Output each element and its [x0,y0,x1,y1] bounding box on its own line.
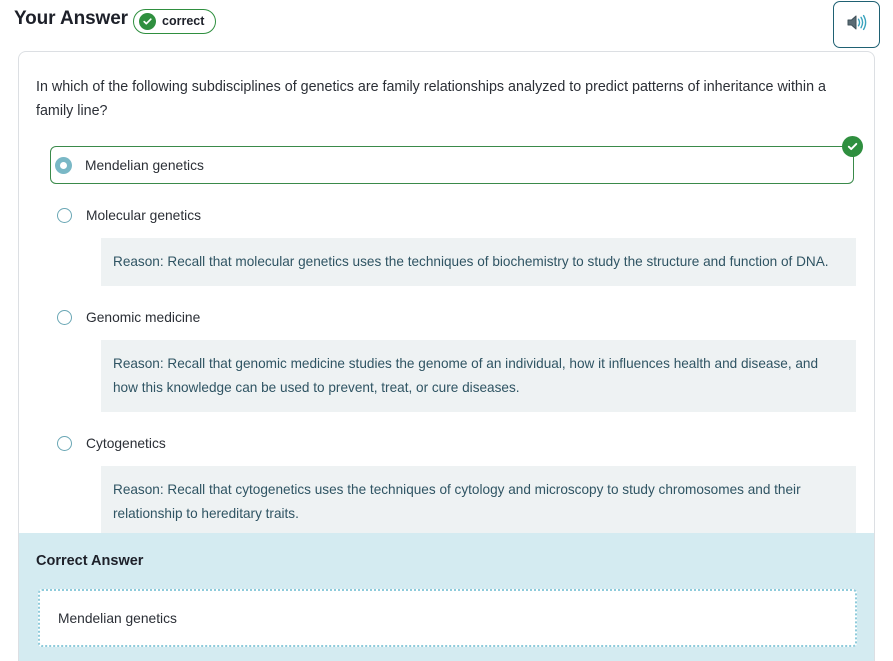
option-genomic-medicine[interactable]: Genomic medicine [19,302,876,332]
radio-unselected-icon[interactable] [57,436,72,451]
page-title: Your Answer [14,8,128,30]
radio-selected-icon[interactable] [56,158,71,173]
correct-answer-value: Mendelian genetics [58,611,177,626]
question-prompt: In which of the following subdisciplines… [36,79,826,119]
reason-text: Reason: Recall that cytogenetics uses th… [113,482,801,521]
option-block: Mendelian genetics [19,146,876,184]
header: Your Answer correct [0,0,893,48]
reason-text: Reason: Recall that genomic medicine stu… [113,356,818,395]
option-cytogenetics[interactable]: Cytogenetics [19,428,876,458]
option-label: Mendelian genetics [85,158,204,173]
question-text: In which of the following subdisciplines… [36,75,861,123]
status-badge-label: correct [162,15,204,28]
correct-answer-heading: Correct Answer [36,553,143,569]
correct-answer-section: Correct Answer Mendelian genetics [18,533,875,661]
reason-text: Reason: Recall that molecular genetics u… [113,254,829,269]
option-mendelian-genetics[interactable]: Mendelian genetics [50,146,854,184]
speaker-icon [845,12,868,38]
option-block: Cytogenetics Reason: Recall that cytogen… [19,428,876,538]
audio-play-button[interactable] [833,1,880,48]
correct-answer-card: Mendelian genetics [38,589,857,647]
status-badge: correct [133,9,216,34]
radio-unselected-icon[interactable] [57,208,72,223]
answer-review-page: Your Answer correct In which of [0,0,893,661]
options-list: Mendelian genetics Molecular genetics Re… [19,141,876,538]
option-reason: Reason: Recall that genomic medicine stu… [101,340,856,412]
option-block: Genomic medicine Reason: Recall that gen… [19,302,876,412]
option-reason: Reason: Recall that molecular genetics u… [101,238,856,286]
option-label: Genomic medicine [86,310,200,325]
option-molecular-genetics[interactable]: Molecular genetics [19,200,876,230]
check-circle-icon [842,136,863,157]
option-label: Cytogenetics [86,436,166,451]
question-panel: In which of the following subdisciplines… [18,51,875,533]
option-label: Molecular genetics [86,208,201,223]
option-reason: Reason: Recall that cytogenetics uses th… [101,466,856,538]
option-block: Molecular genetics Reason: Recall that m… [19,200,876,286]
check-circle-icon [139,13,156,30]
radio-unselected-icon[interactable] [57,310,72,325]
